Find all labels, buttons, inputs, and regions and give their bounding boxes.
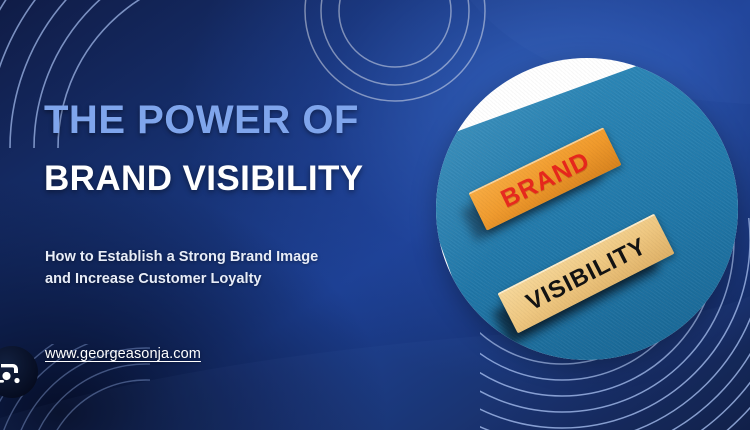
website-url-link[interactable]: www.georgeasonja.com [45,346,201,362]
headline-block: THE POWER OF BRAND VISIBILITY [44,100,414,196]
brand-visibility-photo: BRAND VISIBILITY [436,58,738,360]
headline-line-2: BRAND VISIBILITY [44,161,414,196]
photo-sheen-overlay [436,58,738,360]
subtitle-text: How to Establish a Strong Brand Image an… [45,246,330,290]
headline-line-1: THE POWER OF [44,100,414,140]
brand-visibility-banner: BRAND VISIBILITY THE POWER OF BRAND VISI… [0,0,750,430]
brand-logo-badge[interactable] [0,346,38,398]
brand-logo-icon [0,355,29,389]
